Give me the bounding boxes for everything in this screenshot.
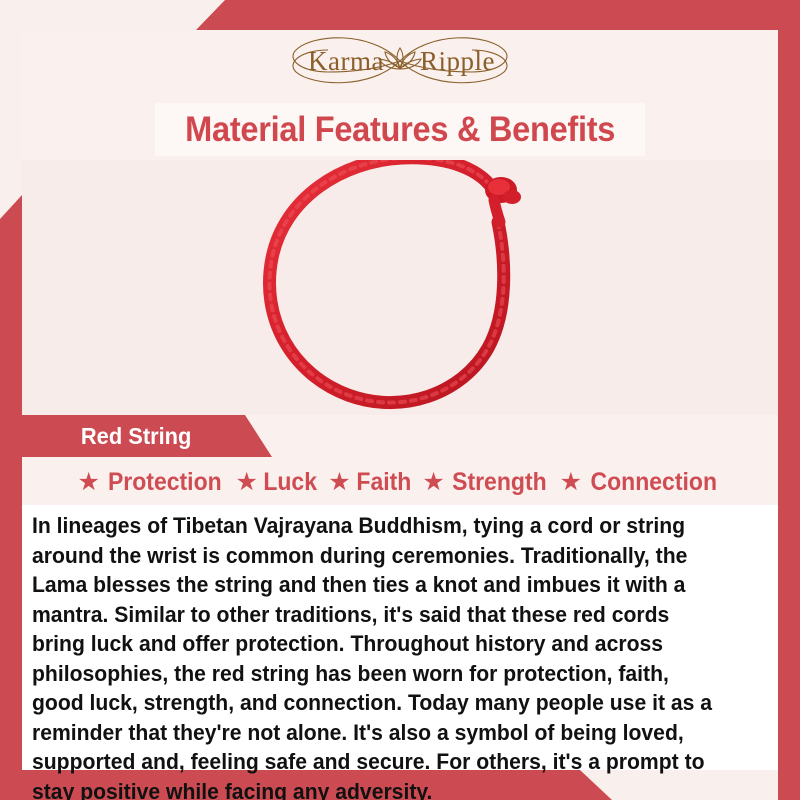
benefit-item: ★ Connection [560, 468, 723, 497]
benefit-item: ★ Luck [236, 468, 320, 497]
star-icon: ★ [77, 470, 99, 495]
decorative-right-bar [778, 0, 800, 800]
red-string-bracelet-icon [250, 160, 550, 415]
benefit-label: Faith [356, 468, 411, 497]
benefits-list: ★ Protection ★ Luck ★ Faith ★ Strength ★… [22, 462, 778, 502]
star-icon: ★ [236, 470, 258, 495]
benefit-label: Strength [452, 468, 547, 497]
brand-logo-graphic: Karma Ripple [250, 32, 550, 90]
description-text: In lineages of Tibetan Vajrayana Buddhis… [32, 511, 713, 800]
product-image [22, 160, 778, 415]
description-block: In lineages of Tibetan Vajrayana Buddhis… [22, 505, 778, 770]
brand-logo: Karma Ripple [0, 32, 800, 90]
benefit-item: ★ Protection [77, 468, 226, 497]
decorative-top-band [0, 0, 800, 30]
star-icon: ★ [560, 470, 582, 495]
material-label: Red String [81, 423, 191, 450]
decorative-left-bar [0, 195, 22, 800]
lotus-icon [379, 48, 421, 69]
page-title: Material Features & Benefits [185, 110, 615, 150]
brand-name-right: Ripple [420, 46, 495, 76]
benefit-label: Protection [108, 468, 222, 497]
brand-name-left: Karma [308, 46, 384, 76]
star-icon: ★ [328, 470, 350, 495]
benefit-label: Luck [263, 468, 317, 497]
title-banner: Material Features & Benefits [155, 103, 645, 156]
benefit-item: ★ Faith [328, 468, 413, 497]
benefit-item: ★ Strength [422, 468, 550, 497]
material-label-banner: Red String [22, 415, 272, 457]
benefit-label: Connection [591, 468, 718, 497]
poster-root: Karma Ripple Material Features & Benefit… [0, 0, 800, 800]
star-icon: ★ [422, 470, 444, 495]
bracelet-knot [485, 177, 521, 222]
